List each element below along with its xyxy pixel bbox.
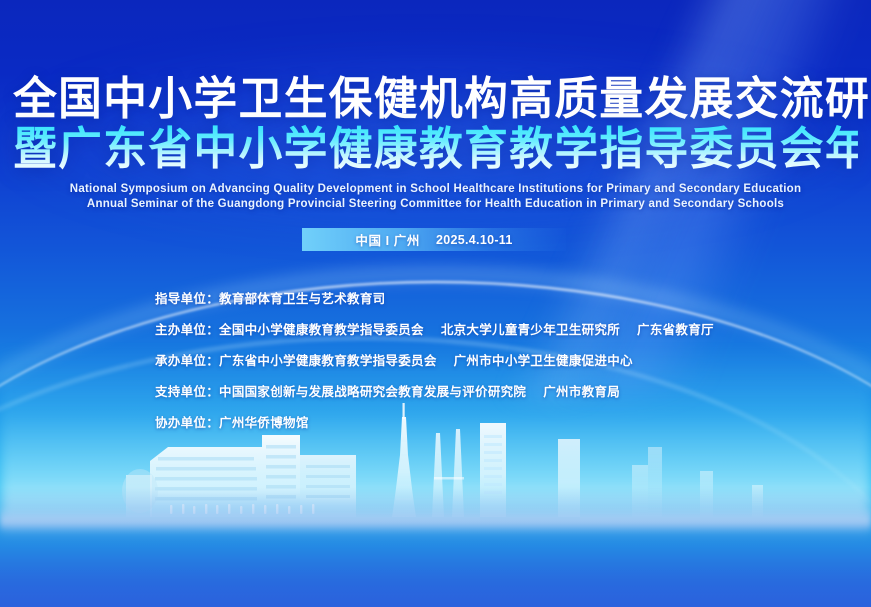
school-building bbox=[122, 435, 356, 517]
organizer-label: 支持单位： bbox=[155, 381, 219, 400]
organizer-value: 广州市教育局 bbox=[543, 381, 620, 400]
title-chinese-line1: 全国中小学卫生保健机构高质量发展交流研讨活动 bbox=[13, 74, 858, 124]
location-date-badge: 中国 I 广州 2025.4.10-11 bbox=[302, 228, 566, 251]
organizer-row: 指导单位：教育部体育卫生与艺术教育司 bbox=[155, 288, 714, 307]
organizer-value: 教育部体育卫生与艺术教育司 bbox=[219, 288, 385, 307]
title-english-line2: Annual Seminar of the Guangdong Provinci… bbox=[0, 197, 871, 212]
organizer-value: 广东省中小学健康教育教学指导委员会 bbox=[219, 350, 437, 369]
organizer-value: 全国中小学健康教育教学指导委员会 bbox=[219, 319, 424, 338]
organizer-label: 协办单位： bbox=[155, 412, 219, 431]
ground-glow bbox=[0, 507, 871, 533]
organizer-values: 广州华侨博物馆 bbox=[219, 412, 309, 431]
organizer-value: 广州华侨博物馆 bbox=[219, 412, 309, 431]
organizer-list: 指导单位：教育部体育卫生与艺术教育司主办单位：全国中小学健康教育教学指导委员会北… bbox=[155, 288, 714, 443]
organizer-values: 教育部体育卫生与艺术教育司 bbox=[219, 288, 385, 307]
organizer-label: 主办单位： bbox=[155, 319, 219, 338]
organizer-row: 支持单位：中国国家创新与发展战略研究会教育发展与评价研究院广州市教育局 bbox=[155, 381, 714, 400]
badge-date: 2025.4.10-11 bbox=[436, 233, 513, 247]
title-block: 全国中小学卫生保健机构高质量发展交流研讨活动 暨广东省中小学健康教育教学指导委员… bbox=[0, 74, 871, 212]
organizer-value: 广州市中小学卫生健康促进中心 bbox=[454, 350, 633, 369]
organizer-value: 广东省教育厅 bbox=[637, 319, 714, 338]
organizer-label: 承办单位： bbox=[155, 350, 219, 369]
organizer-values: 全国中小学健康教育教学指导委员会北京大学儿童青少年卫生研究所广东省教育厅 bbox=[219, 319, 714, 338]
organizer-value: 中国国家创新与发展战略研究会教育发展与评价研究院 bbox=[219, 381, 526, 400]
organizer-row: 承办单位：广东省中小学健康教育教学指导委员会广州市中小学卫生健康促进中心 bbox=[155, 350, 714, 369]
organizer-row: 协办单位：广州华侨博物馆 bbox=[155, 412, 714, 431]
organizer-label: 指导单位： bbox=[155, 288, 219, 307]
badge-location: 中国 I 广州 bbox=[355, 230, 420, 249]
title-chinese-line2: 暨广东省中小学健康教育教学指导委员会年度研讨活动 bbox=[13, 124, 858, 174]
organizer-value: 北京大学儿童青少年卫生研究所 bbox=[441, 319, 620, 338]
organizer-values: 广东省中小学健康教育教学指导委员会广州市中小学卫生健康促进中心 bbox=[219, 350, 633, 369]
organizer-values: 中国国家创新与发展战略研究会教育发展与评价研究院广州市教育局 bbox=[219, 381, 620, 400]
title-english-line1: National Symposium on Advancing Quality … bbox=[0, 182, 871, 197]
conference-poster: 全国中小学卫生保健机构高质量发展交流研讨活动 暨广东省中小学健康教育教学指导委员… bbox=[0, 0, 871, 607]
organizer-row: 主办单位：全国中小学健康教育教学指导委员会北京大学儿童青少年卫生研究所广东省教育… bbox=[155, 319, 714, 338]
